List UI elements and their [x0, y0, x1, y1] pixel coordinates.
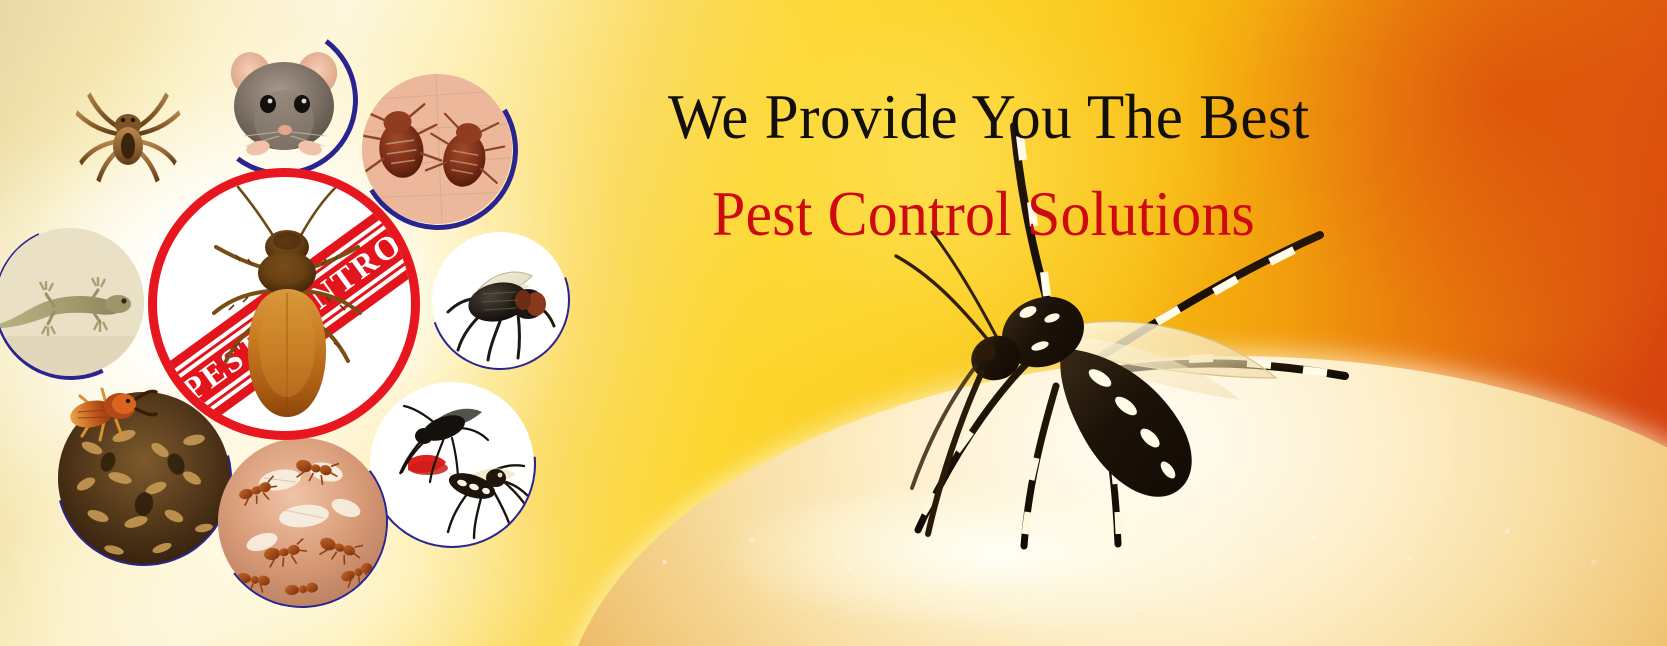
pest-circle-lizard [0, 228, 144, 376]
pest-circle-bedbug [362, 74, 512, 224]
pest-circle-fly [432, 232, 568, 368]
pest-circle-mosquito [370, 382, 534, 546]
pest-control-stamp: PEST CONTROL [148, 168, 420, 440]
cockroach-icon [212, 185, 362, 435]
termite-icon [62, 372, 158, 452]
pest-circle-spider [72, 78, 184, 190]
pest-circle-ant [218, 438, 386, 606]
headline-block: We Provide You The Best Pest Control Sol… [668, 86, 1428, 246]
headline-primary: We Provide You The Best [668, 86, 1405, 149]
pest-collage: PEST CONTROL [0, 0, 600, 620]
headline-secondary: Pest Control Solutions [712, 183, 1392, 246]
pest-control-hero-banner: PEST CONTROL We Provide You The Best Pes… [0, 0, 1667, 646]
pest-circle-rat [210, 24, 358, 172]
